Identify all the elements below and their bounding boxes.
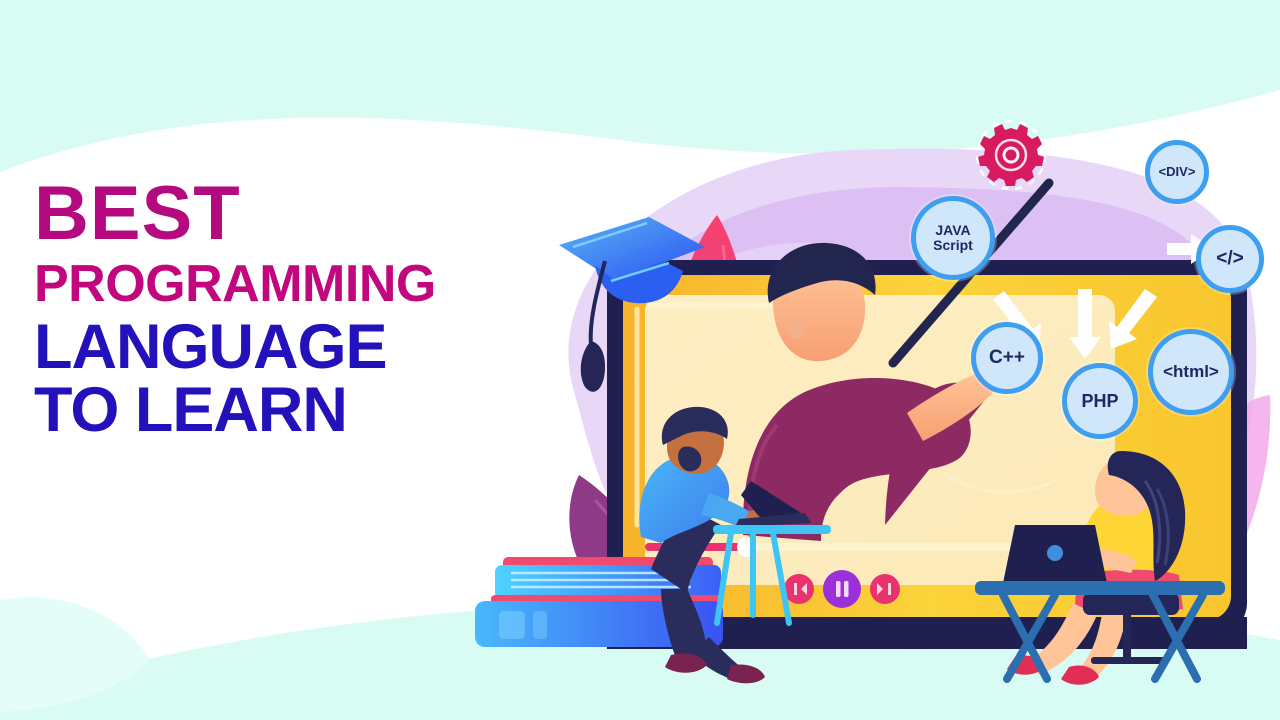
bubble-div[interactable]: <DIV> bbox=[1145, 140, 1209, 204]
poster-canvas: BEST PROGRAMMING LANGUAGE TO LEARN bbox=[0, 0, 1280, 720]
bubble-html[interactable]: <html> bbox=[1148, 329, 1234, 415]
bubble-code-label: </> bbox=[1216, 249, 1243, 269]
next-icon bbox=[888, 583, 891, 595]
bubble-php-label: PHP bbox=[1081, 392, 1118, 411]
headline-block: BEST PROGRAMMING LANGUAGE TO LEARN bbox=[34, 178, 514, 441]
bubble-javascript-label-line2: Script bbox=[931, 238, 975, 253]
bubble-javascript[interactable]: JAVA Script bbox=[911, 196, 995, 280]
book-label-b bbox=[533, 611, 547, 639]
student-left-shoe-1 bbox=[727, 665, 765, 684]
headline-line-4: TO LEARN bbox=[34, 381, 514, 441]
bubble-code[interactable]: </> bbox=[1196, 225, 1264, 293]
book-label-a bbox=[499, 611, 525, 639]
bubble-javascript-label-line1: JAVA bbox=[931, 223, 975, 238]
chair-foot bbox=[1091, 657, 1165, 664]
desk-top bbox=[975, 581, 1225, 595]
pause-button bbox=[823, 570, 861, 608]
prev-button bbox=[784, 574, 814, 604]
chair-post bbox=[1123, 613, 1131, 661]
prev-icon bbox=[794, 583, 797, 595]
pause-icon-bar-right bbox=[844, 581, 849, 597]
woman-laptop-logo bbox=[1047, 545, 1063, 561]
bubble-cpp-label: C++ bbox=[989, 348, 1025, 368]
pause-icon-bar-left bbox=[836, 581, 841, 597]
headline-line-2: PROGRAMMING bbox=[34, 260, 514, 309]
headline-line-3: LANGUAGE bbox=[34, 318, 514, 378]
next-button bbox=[870, 574, 900, 604]
bubble-php[interactable]: PHP bbox=[1062, 363, 1138, 439]
headline-line-1: BEST bbox=[34, 178, 514, 250]
bubble-html-label: <html> bbox=[1163, 363, 1219, 381]
bubble-cpp[interactable]: C++ bbox=[971, 322, 1043, 394]
bubble-div-label: <DIV> bbox=[1159, 165, 1196, 179]
